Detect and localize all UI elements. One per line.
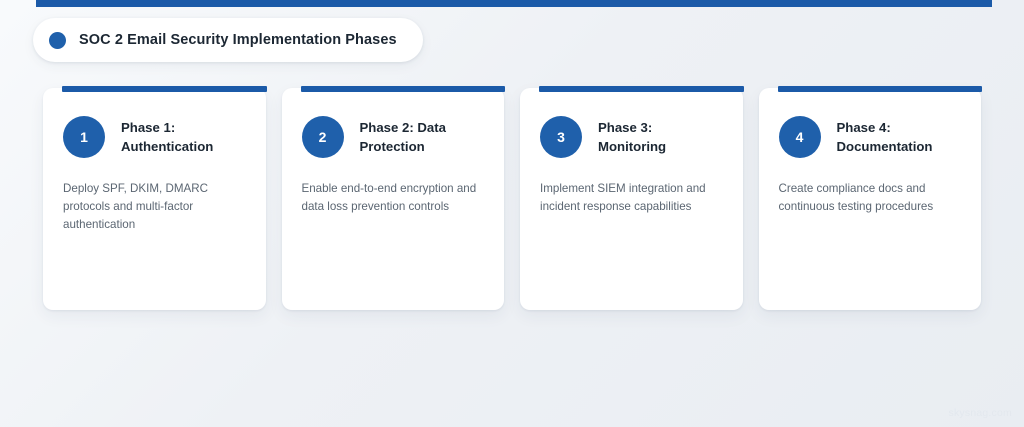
card-accent-bar bbox=[301, 86, 506, 92]
filled-circle-icon bbox=[49, 32, 66, 49]
card-header: 2 Phase 2: Data Protection bbox=[302, 116, 485, 158]
phase-number-badge: 4 bbox=[779, 116, 821, 158]
top-accent-bar bbox=[36, 0, 992, 7]
phase-number-badge: 1 bbox=[63, 116, 105, 158]
card-header: 4 Phase 4: Documentation bbox=[779, 116, 962, 158]
phase-title: Phase 4: Documentation bbox=[837, 116, 962, 157]
card-header: 1 Phase 1: Authentication bbox=[63, 116, 246, 158]
card-accent-bar bbox=[62, 86, 267, 92]
card-accent-bar bbox=[778, 86, 983, 92]
phase-cards-row: 1 Phase 1: Authentication Deploy SPF, DK… bbox=[43, 88, 981, 310]
phase-description: Implement SIEM integration and incident … bbox=[540, 180, 723, 216]
phase-title: Phase 1: Authentication bbox=[121, 116, 246, 157]
phase-number-badge: 3 bbox=[540, 116, 582, 158]
phase-card[interactable]: 4 Phase 4: Documentation Create complian… bbox=[759, 88, 982, 310]
phase-card[interactable]: 1 Phase 1: Authentication Deploy SPF, DK… bbox=[43, 88, 266, 310]
phase-title: Phase 3: Monitoring bbox=[598, 116, 723, 157]
phase-card[interactable]: 2 Phase 2: Data Protection Enable end-to… bbox=[282, 88, 505, 310]
phase-number-badge: 2 bbox=[302, 116, 344, 158]
phase-title: Phase 2: Data Protection bbox=[360, 116, 485, 157]
phase-description: Deploy SPF, DKIM, DMARC protocols and mu… bbox=[63, 180, 246, 234]
page-title: SOC 2 Email Security Implementation Phas… bbox=[79, 32, 397, 48]
phase-card[interactable]: 3 Phase 3: Monitoring Implement SIEM int… bbox=[520, 88, 743, 310]
watermark: skysnag.com bbox=[949, 407, 1012, 419]
phase-description: Enable end-to-end encryption and data lo… bbox=[302, 180, 485, 216]
phase-description: Create compliance docs and continuous te… bbox=[779, 180, 962, 216]
card-accent-bar bbox=[539, 86, 744, 92]
page-title-pill: SOC 2 Email Security Implementation Phas… bbox=[33, 18, 423, 62]
card-header: 3 Phase 3: Monitoring bbox=[540, 116, 723, 158]
